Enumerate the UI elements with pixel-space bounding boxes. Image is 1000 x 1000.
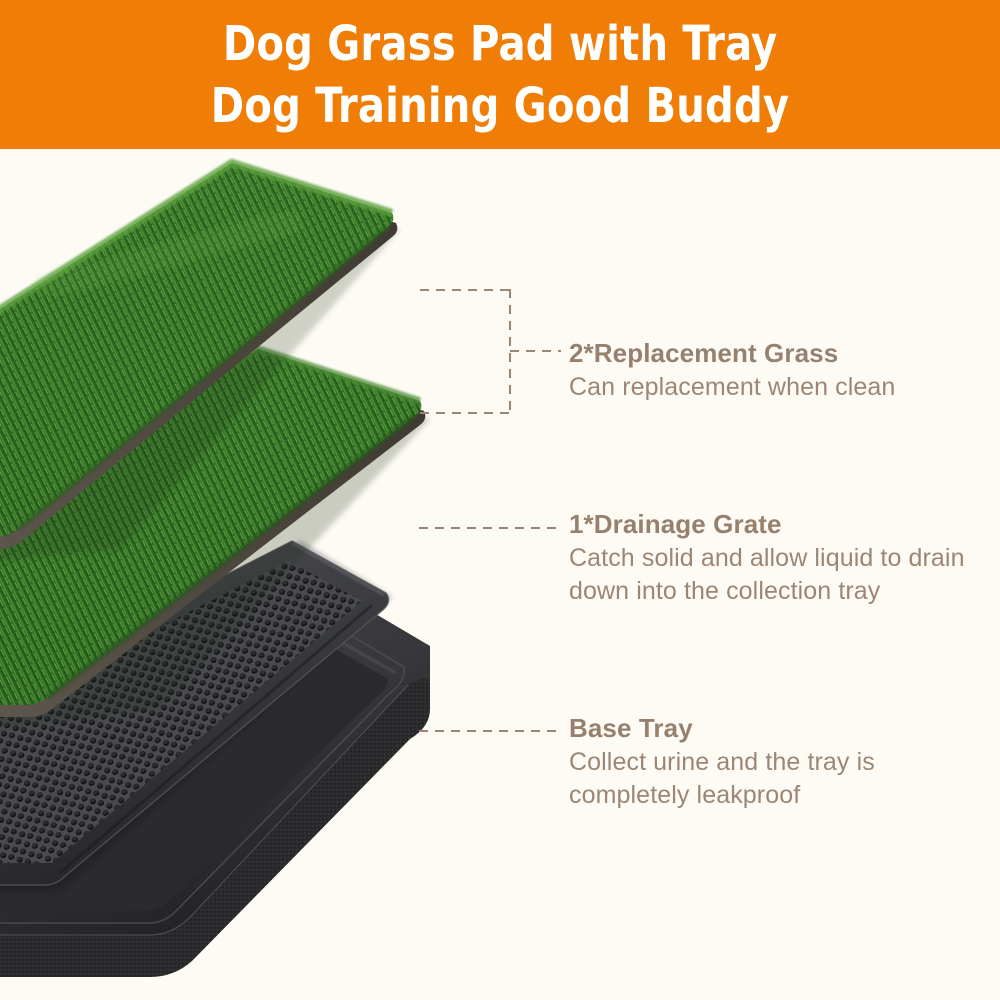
callout-body-drainage-grate: Catch solid and allow liquid to drain do… — [569, 542, 989, 608]
callout-title-replacement-grass: 2*Replacement Grass — [569, 337, 989, 369]
callout-body-replacement-grass: Can replacement when clean — [569, 371, 989, 404]
header-banner: Dog Grass Pad with Tray Dog Training Goo… — [0, 0, 1000, 149]
callout-body-base-tray: Collect urine and the tray is completely… — [569, 746, 989, 812]
connector-dashed-tray — [418, 724, 558, 738]
header-title-line-1: Dog Grass Pad with Tray — [223, 13, 777, 75]
callout-title-base-tray: Base Tray — [569, 712, 989, 744]
connector-dashed-grate — [418, 521, 558, 535]
product-exploded-view-svg — [0, 149, 470, 1000]
product-illustration — [0, 149, 470, 1000]
connector-bracket-grass — [418, 283, 563, 419]
callout-title-drainage-grate: 1*Drainage Grate — [569, 508, 989, 540]
callout-base-tray: Base Tray Collect urine and the tray is … — [569, 712, 989, 812]
callout-replacement-grass: 2*Replacement Grass Can replacement when… — [569, 337, 989, 404]
header-title-line-2: Dog Training Good Buddy — [211, 75, 790, 137]
callout-drainage-grate: 1*Drainage Grate Catch solid and allow l… — [569, 508, 989, 608]
infographic-page: Dog Grass Pad with Tray Dog Training Goo… — [0, 0, 1000, 1000]
